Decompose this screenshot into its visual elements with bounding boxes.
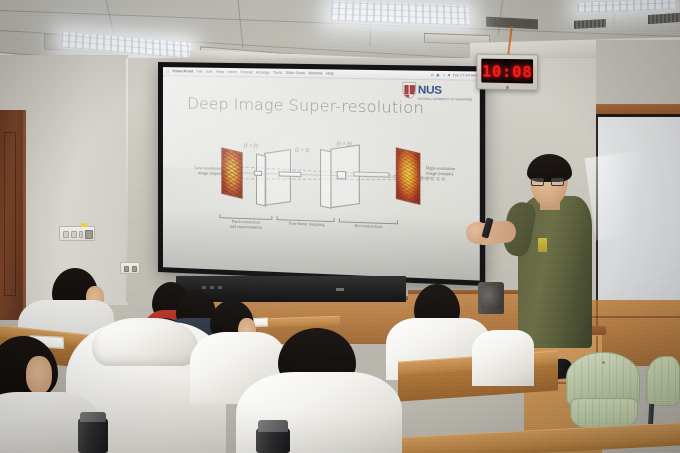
menubar-status-area[interactable]: ⎈ 🔈 ◗ ■ Tue 17:04 NH [431, 73, 480, 78]
desktop-speaker [478, 282, 504, 314]
student-hood [92, 318, 198, 366]
menu-item-view[interactable]: View [216, 70, 224, 74]
clock-time-display: 10:08 [482, 61, 532, 81]
stage-label-reconstruction: Reconstruction [335, 222, 403, 230]
wall-digital-clock: 10:08 [476, 54, 538, 91]
reconstruction-strip [354, 171, 390, 177]
volume-icon[interactable]: 🔈 [436, 73, 441, 77]
menu-item-tools[interactable]: Tools [273, 71, 282, 75]
ceiling-vent-b [574, 19, 606, 29]
clock-face: 10:08 [481, 59, 533, 84]
slide-title: Deep Image Super-resolution [187, 95, 424, 118]
wifi-icon[interactable]: ◗ [443, 73, 445, 77]
menu-item-format[interactable]: Format [240, 70, 252, 74]
tumbler-cap-2[interactable] [258, 420, 288, 432]
chair-rivet [602, 361, 605, 364]
classroom-door[interactable] [0, 110, 26, 320]
classroom-chair-seat[interactable] [570, 398, 638, 428]
student-torso [472, 330, 534, 386]
wall-outlet-plate[interactable] [120, 262, 140, 274]
kernel-label-2: f2 × f2 [295, 147, 310, 153]
kernel-label-1: f1 × f1 [244, 143, 258, 149]
clock-button[interactable] [506, 86, 509, 89]
menu-item-insert[interactable]: Insert [227, 70, 237, 74]
whiteboard [596, 114, 680, 304]
chair-far-right[interactable] [646, 356, 680, 406]
high-resolution-output-image [396, 147, 421, 205]
input-image-label: Low-resolution image (input) [179, 165, 221, 177]
menu-item-slide-show[interactable]: Slide Show [285, 71, 305, 75]
projection-screen:  PowerPoint File Edit View Insert Forma… [158, 62, 485, 286]
menu-item-help[interactable]: Help [326, 71, 334, 75]
conv-layer-2-face [320, 149, 331, 209]
menu-item-file[interactable]: File [197, 70, 203, 74]
student-face [26, 356, 52, 394]
presenter-glasses [531, 178, 565, 186]
kernel-label-3: f3 × f3 [337, 141, 352, 148]
whiteboard-glare [584, 150, 652, 240]
projected-slide:  PowerPoint File Edit View Insert Forma… [163, 67, 480, 280]
feature-strip [279, 171, 302, 177]
apple-menu-icon[interactable]:  [166, 69, 170, 74]
battery-icon[interactable]: ■ [448, 73, 450, 77]
menu-item-arrange[interactable]: Arrange [256, 70, 270, 74]
conv-layer-1-cube [264, 149, 291, 206]
water-tumbler[interactable] [78, 418, 108, 453]
menu-item-edit[interactable]: Edit [206, 70, 213, 74]
low-resolution-input-image [221, 147, 242, 199]
bluetooth-icon[interactable]: ⎈ [431, 73, 434, 77]
menubar-clock[interactable]: Tue 17:04 NH [452, 73, 476, 78]
tumbler-cap[interactable] [80, 412, 106, 422]
conv-layer-1-face [256, 154, 266, 207]
patch-sample-2 [337, 171, 346, 179]
slide-body: Deep Image Super-resolution Low-resoluti… [163, 76, 480, 280]
wall-switch-plate[interactable] [59, 226, 95, 241]
output-image-label: High-resolution image (output) [426, 165, 474, 177]
classroom-photo:  PowerPoint File Edit View Insert Forma… [0, 0, 680, 453]
menu-app-name[interactable]: PowerPoint [173, 69, 194, 73]
door-panel [4, 132, 16, 296]
menu-item-window[interactable]: Window [308, 71, 322, 75]
srcnn-architecture-diagram: Low-resolution image (input) f1 × f1 f2 … [181, 129, 465, 250]
patch-sample-1 [254, 171, 262, 176]
presenter-shirt-graphic [538, 238, 547, 252]
